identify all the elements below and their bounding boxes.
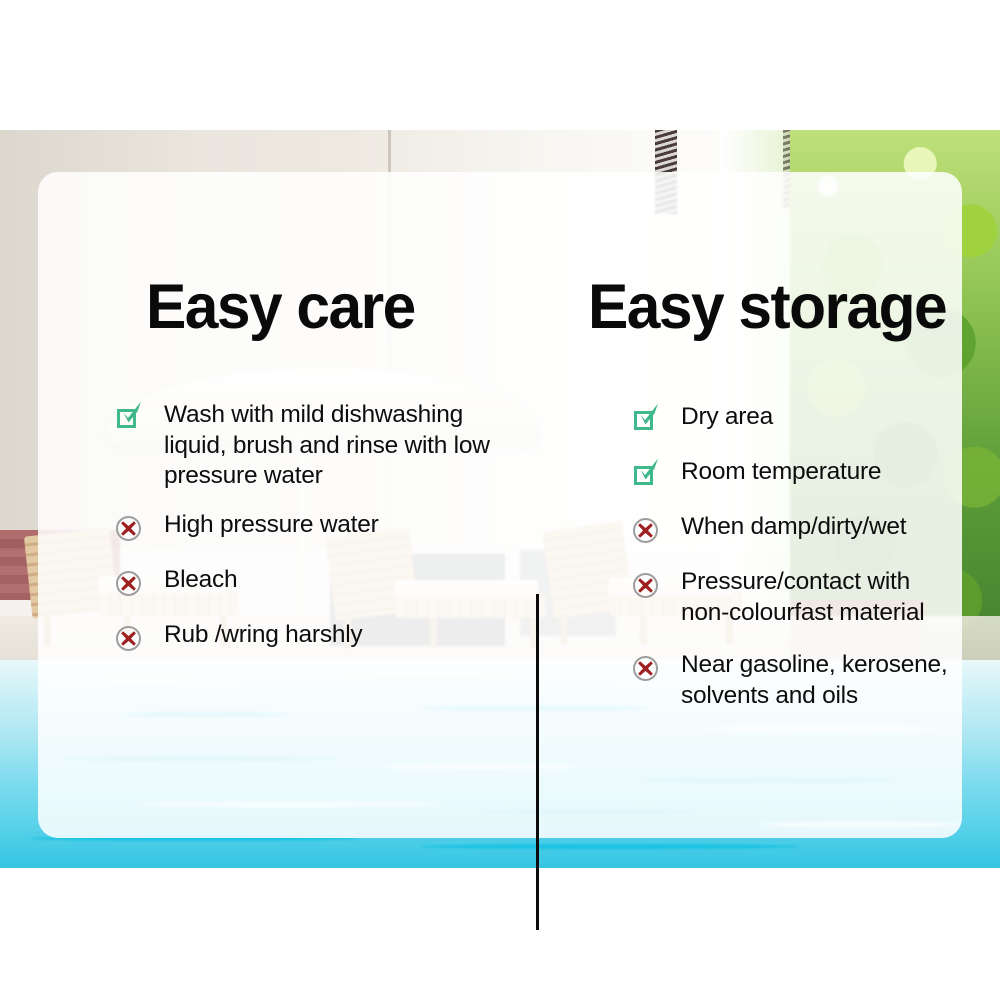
list-item-label: Pressure/contact with non-colourfast mat…	[681, 567, 950, 628]
list-item-label: Rub /wring harshly	[164, 620, 362, 651]
storage-list: Dry area Room temperature	[550, 402, 950, 734]
list-item: Room temperature	[550, 457, 950, 490]
x-circle-icon	[633, 515, 663, 545]
list-item: Near gasoline, kerosene, solvents and oi…	[550, 650, 950, 711]
list-item-label: Dry area	[681, 402, 773, 433]
column-divider	[536, 594, 539, 930]
info-card: Easy care Wash with mild dishwashing liq…	[38, 172, 962, 838]
x-circle-icon	[116, 623, 146, 653]
list-item: Wash with mild dishwashing liquid, brush…	[108, 400, 538, 492]
list-item: High pressure water	[108, 510, 538, 543]
x-circle-icon	[633, 653, 663, 683]
list-item: Bleach	[108, 565, 538, 598]
list-item-label: Bleach	[164, 565, 237, 596]
list-item: Dry area	[550, 402, 950, 435]
heading-easy-care: Easy care	[146, 276, 415, 339]
x-circle-icon	[116, 568, 146, 598]
x-circle-icon	[116, 513, 146, 543]
list-item-label: Wash with mild dishwashing liquid, brush…	[164, 400, 494, 492]
check-icon	[633, 460, 663, 490]
list-item-label: High pressure water	[164, 510, 378, 541]
care-list: Wash with mild dishwashing liquid, brush…	[108, 400, 538, 671]
list-item: Rub /wring harshly	[108, 620, 538, 653]
screenshot-root: Easy care Wash with mild dishwashing liq…	[0, 0, 1000, 1000]
list-item: Pressure/contact with non-colourfast mat…	[550, 567, 950, 628]
list-item: When damp/dirty/wet	[550, 512, 950, 545]
list-item-label: When damp/dirty/wet	[681, 512, 906, 543]
check-icon	[116, 403, 146, 433]
list-item-label: Room temperature	[681, 457, 881, 488]
check-icon	[633, 405, 663, 435]
heading-easy-storage: Easy storage	[588, 276, 946, 339]
list-item-label: Near gasoline, kerosene, solvents and oi…	[681, 650, 950, 711]
x-circle-icon	[633, 570, 663, 600]
